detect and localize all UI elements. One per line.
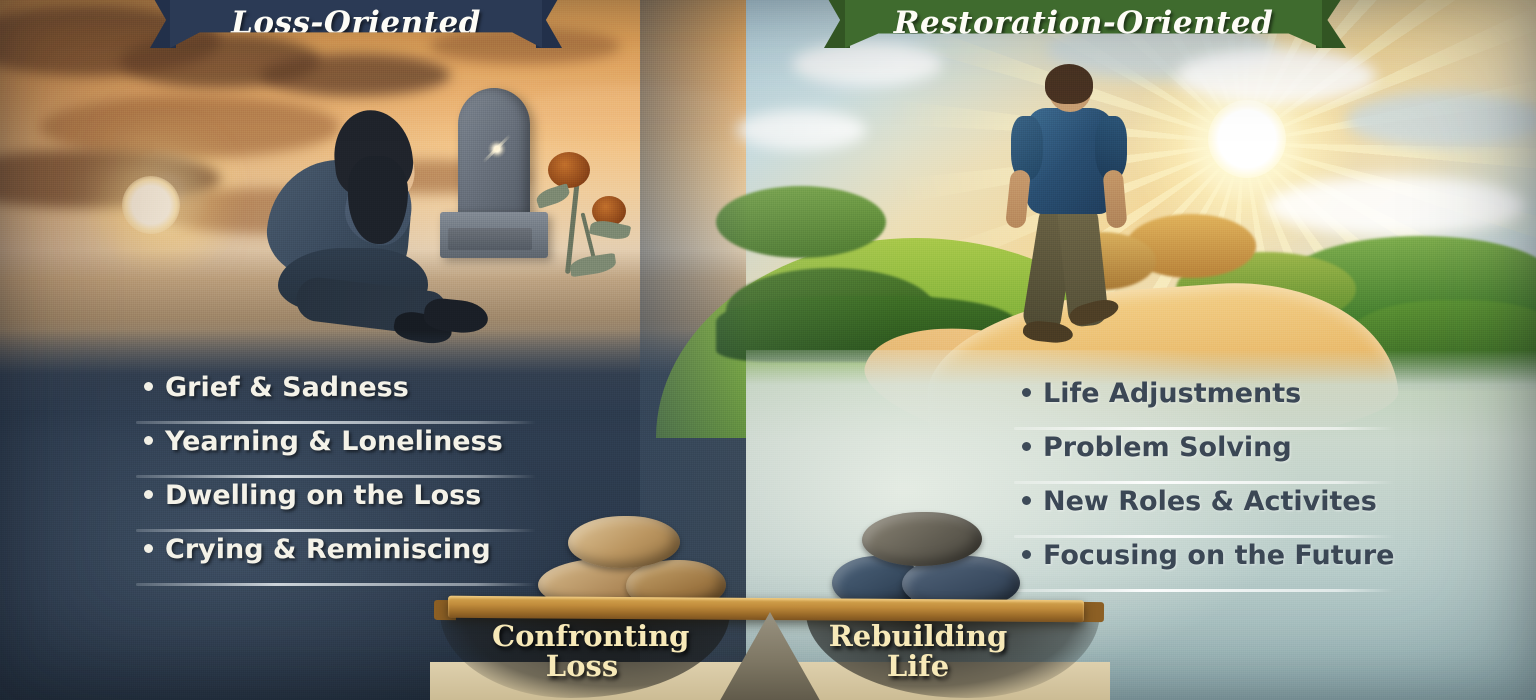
divider bbox=[136, 421, 536, 424]
rising-sun bbox=[1208, 100, 1286, 178]
cloud bbox=[792, 42, 942, 86]
infographic-canvas: Loss-Oriented Restoration-Oriented Grief… bbox=[0, 0, 1536, 700]
bullet-icon bbox=[144, 490, 153, 499]
bullet-icon bbox=[144, 436, 153, 445]
rebuilding-life-line2: Life bbox=[828, 652, 1008, 682]
bullet-icon bbox=[1022, 388, 1031, 397]
bullet-icon bbox=[144, 382, 153, 391]
divider bbox=[1014, 481, 1394, 484]
grieving-woman bbox=[252, 108, 522, 366]
man-shoe bbox=[1022, 319, 1074, 344]
stone bbox=[862, 512, 982, 566]
man-arm bbox=[1005, 169, 1031, 229]
walking-man bbox=[997, 64, 1137, 364]
list-item-label: Problem Solving bbox=[1043, 432, 1292, 463]
cloud bbox=[736, 110, 866, 150]
cloud bbox=[1346, 92, 1536, 148]
list-item-label: Yearning & Loneliness bbox=[165, 426, 503, 457]
list-item-label: Life Adjustments bbox=[1043, 378, 1301, 409]
rebuilding-life-line1: Rebuilding bbox=[829, 619, 1008, 653]
confronting-loss-label: Confronting Loss bbox=[492, 622, 672, 681]
confronting-loss-line1: Confronting bbox=[492, 619, 689, 653]
list-item[interactable]: Grief & Sadness bbox=[136, 372, 536, 426]
stone bbox=[568, 516, 680, 568]
divider bbox=[1014, 427, 1394, 430]
man-hair bbox=[1045, 64, 1093, 104]
confronting-loss-line2: Loss bbox=[492, 652, 672, 682]
divider bbox=[136, 475, 536, 478]
cloud bbox=[1266, 176, 1526, 236]
cool-stone-stack bbox=[822, 512, 1032, 604]
list-item[interactable]: Life Adjustments bbox=[1014, 378, 1414, 432]
tree-line bbox=[716, 186, 886, 258]
list-item[interactable]: Yearning & Loneliness bbox=[136, 426, 536, 480]
bullet-icon bbox=[144, 544, 153, 553]
bullet-icon bbox=[1022, 442, 1031, 451]
rebuilding-life-label: Rebuilding Life bbox=[828, 622, 1008, 681]
list-item-label: Grief & Sadness bbox=[165, 372, 409, 403]
warm-stone-stack bbox=[526, 514, 736, 604]
cloud bbox=[1176, 48, 1376, 104]
man-arm bbox=[1103, 169, 1128, 229]
list-item[interactable]: Problem Solving bbox=[1014, 432, 1414, 486]
fulcrum-triangle bbox=[718, 612, 822, 700]
